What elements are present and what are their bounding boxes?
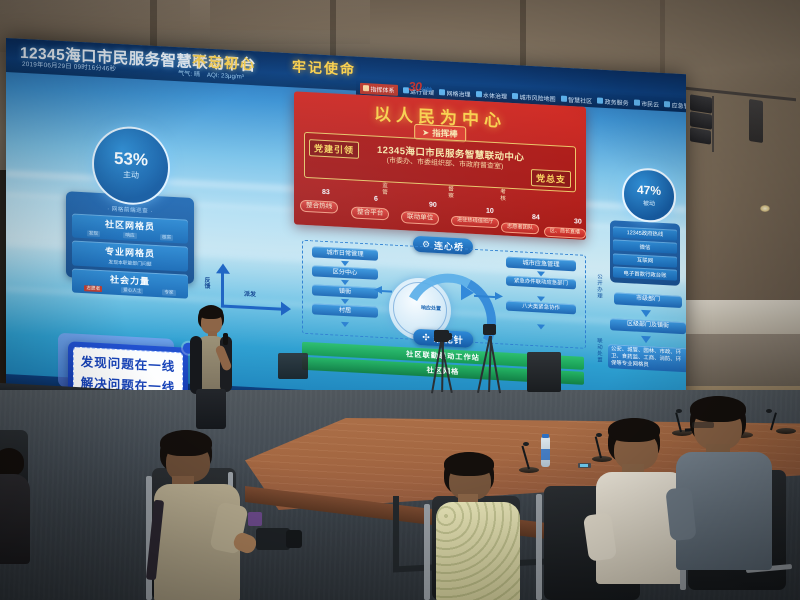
line-array-speaker [749, 99, 763, 143]
screen-content: 12345海口市民服务智慧联动平台 2019年06月29日 09时16分46秒 … [6, 38, 686, 426]
presenter-left-shoulder [190, 336, 202, 394]
row-community-grid-worker[interactable]: 社区网格员 发现 响应 核实 [72, 214, 188, 244]
active-percent-value: 53% [114, 150, 148, 169]
camera-strap [248, 512, 262, 526]
table-leg [393, 496, 399, 570]
connector-head-left [374, 286, 382, 294]
led-video-wall[interactable]: 12345海口市民服务智慧联动平台 2019年06月29日 09时16分46秒 … [6, 38, 686, 426]
nav-label: 智慧社区 [568, 94, 592, 104]
stat-value-live-broadcast: 30 [574, 218, 582, 225]
grid-frontline-panel: · 网格前端巡查 · 社区网格员 发现 响应 核实 专业网格员 发现本职能部门问… [66, 191, 194, 284]
weather-label: 气气: [178, 70, 192, 78]
stat-integrated-hotlines: 整合热线 [300, 200, 338, 214]
passive-percent-value: 47% [637, 183, 661, 196]
nav-item-emergency[interactable]: 应急管理 [664, 100, 686, 111]
home-icon [561, 96, 567, 102]
stat-duty-hall: 进驻热线值班厅 [451, 216, 499, 229]
box-municipal-dept: 市级部门 [614, 292, 682, 307]
grid-icon [363, 85, 369, 91]
nav-label: 市民云 [641, 98, 659, 108]
channel-internet[interactable]: 互联网 [613, 253, 677, 267]
nav-label: 政务服务 [605, 96, 629, 106]
ceiling-panel [190, 0, 370, 44]
assessment-label: 考核 [498, 188, 506, 202]
right-arrow-down [641, 310, 651, 318]
dispatch-arrow-head [281, 302, 291, 317]
weather-value: 晴 [194, 71, 200, 78]
chain-arrow-down [341, 299, 349, 304]
passive-percentage-badge: 47% 被动 [622, 167, 676, 224]
chain-arrow-down [341, 280, 349, 285]
tag-respond: 响应 [123, 232, 136, 239]
alert-icon [664, 101, 670, 107]
shield-icon [512, 93, 518, 99]
row-professional-grid-worker[interactable]: 专业网格员 发现本职能部门问题 [72, 241, 188, 272]
bottle-label [541, 449, 550, 460]
stat-value-units: 90 [429, 202, 437, 209]
mic-head [766, 409, 772, 413]
channel-electronic-ledger[interactable]: 电子首款行政台账 [613, 266, 677, 280]
slogan-part-2: 牢记使命 [292, 56, 356, 79]
conference-room-photo: 12345海口市民服务智慧联动平台 2019年06月29日 09时16分46秒 … [0, 0, 800, 600]
presenter-legs [196, 389, 226, 429]
stat-integrated-platforms: 整合平台 [351, 206, 389, 220]
mic-head [596, 433, 602, 437]
party-branch-tag: 党总支 [531, 169, 571, 188]
tag-caring-people: 爱心人士 [121, 287, 143, 294]
slogan-part-1: 不忘初心 [192, 51, 256, 74]
linkage-handling-label: 联动处置 [595, 337, 603, 363]
water-icon [476, 91, 482, 97]
feedback-arrow-head [216, 263, 230, 274]
response-unit: 分钟 [421, 87, 431, 94]
box-department-list: 公安、城管、园林、市政、环卫、食药监、工商、消防、环保等专业网格员 [608, 344, 686, 373]
presenter-hair-top [199, 306, 223, 319]
tag-verify: 核实 [160, 234, 173, 241]
camera-lens [447, 333, 452, 340]
aqi-label: AQI: [207, 72, 219, 80]
microphone-handheld [223, 333, 228, 345]
inspection-label: 督察 [446, 185, 454, 199]
aqi-value: 23μg/m³ [221, 72, 244, 80]
camera-lens [286, 530, 302, 548]
tag-discover: 发现 [87, 230, 100, 237]
stat-director-live: 区、局长直播 [544, 227, 586, 239]
mic-head [676, 409, 682, 413]
response-caption: 响应处置 [421, 304, 441, 312]
channel-wechat[interactable]: 微信 [613, 239, 677, 253]
feedback-label: 反馈 [202, 276, 211, 288]
stat-value-hotlines: 83 [322, 189, 330, 196]
stat-value-platforms: 6 [374, 196, 378, 203]
nav-label: 应急管理 [672, 100, 686, 110]
connector-head-right [495, 292, 503, 300]
stat-linkage-units: 联动单位 [401, 211, 439, 225]
down-light [760, 205, 770, 212]
stat-value-duty-hall: 10 [486, 208, 494, 215]
tag-volunteer: 志愿者 [84, 285, 102, 292]
command-center-red-panel: 以人民为中心 ➤ 指挥棒 党建引领 12345海口市民服务智慧联动中心 (市委办… [294, 91, 586, 240]
nav-item-risk-map[interactable]: 城市风险地图 [512, 91, 556, 102]
supervision-label: 监管 [380, 182, 388, 196]
floor-monitor-speaker [278, 353, 308, 379]
doc-icon [597, 97, 603, 103]
dispatch-label: 派发 [244, 289, 256, 299]
channel-gov-hotline[interactable]: 12345政府热线 [613, 226, 677, 240]
public-handling-label: 公开办理 [595, 273, 603, 299]
camera-held-by-audience [256, 528, 290, 550]
needle-icon: ✣ [422, 332, 431, 343]
nav-item-citizen-cloud[interactable]: 市民云 [634, 98, 660, 108]
nav-label: 水体治理 [483, 90, 507, 100]
video-camera [483, 324, 496, 335]
nav-item-smart-community[interactable]: 智慧社区 [561, 94, 593, 105]
chain-arrow-down [537, 324, 545, 329]
right-arrow-down [641, 336, 651, 344]
box-district-dept: 区级部门及镇街 [610, 318, 686, 334]
stat-value-volunteer-teams: 84 [532, 214, 540, 221]
response-number: 30 [409, 79, 422, 94]
bottle-cap [542, 434, 549, 438]
nav-label: 城市风险地图 [520, 92, 556, 103]
chain-arrow-down [537, 271, 545, 276]
eyeglasses [692, 422, 714, 428]
cloud-icon [634, 99, 640, 105]
passive-channels-panel: 12345政府热线 微信 互联网 电子首款行政台账 [610, 220, 680, 286]
feedback-arrow-stem [221, 271, 224, 307]
mic-head [523, 442, 529, 446]
active-percent-label: 主动 [123, 169, 139, 181]
passive-percent-label: 被动 [643, 197, 655, 207]
smartphone [578, 463, 591, 468]
mic-base [776, 428, 796, 434]
floor-speaker [527, 352, 561, 392]
party-leadership-tag: 党建引领 [309, 139, 359, 159]
cycle-arrow-tip [461, 284, 474, 301]
chain-arrow-down [341, 322, 349, 327]
callout-line-1: 发现问题在一线 [81, 351, 176, 375]
nav-item-gov-service[interactable]: 政务服务 [597, 96, 629, 107]
stat-volunteer-teams: 志愿者团队 [501, 222, 539, 234]
tag-expert: 专家 [162, 289, 175, 296]
baton-icon: ➤ [422, 127, 429, 138]
chain-arrow-down [537, 296, 545, 301]
speaker-hanger [712, 96, 714, 152]
chain-arrow-down [341, 261, 349, 266]
nav-item-water-governance[interactable]: 水体治理 [476, 90, 508, 101]
linkage-center-box: 党建引领 12345海口市民服务智慧联动中心 (市委办、市委组织部、市政府督查室… [304, 132, 576, 192]
